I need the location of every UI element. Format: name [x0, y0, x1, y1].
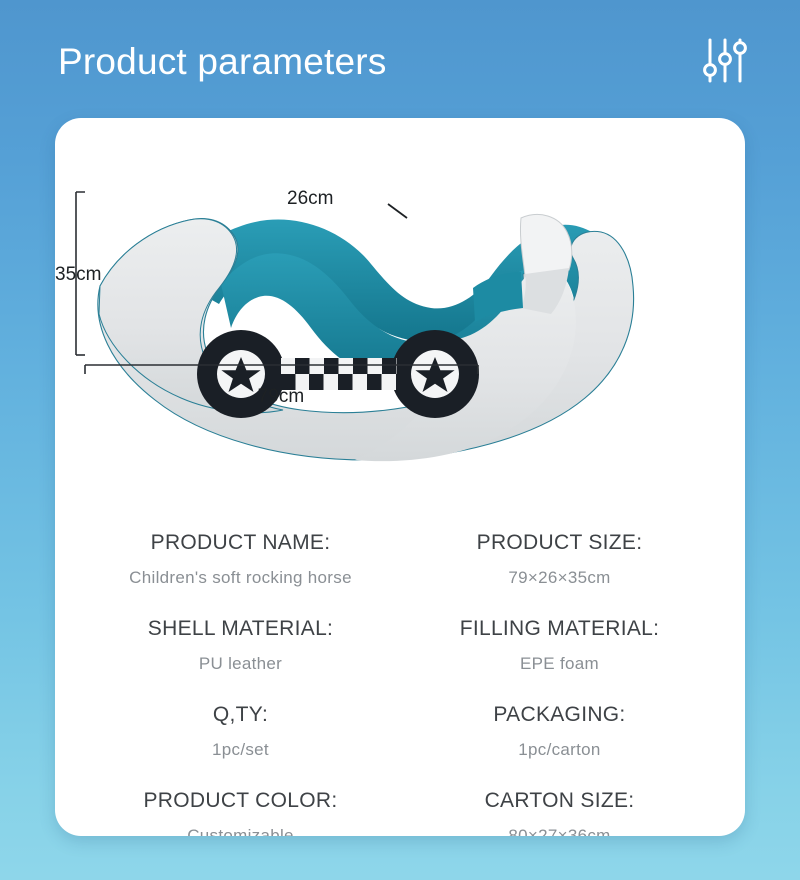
- spec-label: Q,TY:: [213, 702, 268, 728]
- spec-value: 1pc/set: [212, 739, 269, 760]
- spec-packaging: PACKAGING: 1pc/carton: [400, 702, 719, 788]
- rocking-car-illustration: 35cm: [55, 162, 745, 492]
- spec-value: 79×26×35cm: [508, 567, 610, 588]
- spec-product-name: PRODUCT NAME: Children's soft rocking ho…: [81, 530, 400, 616]
- page-title: Product parameters: [58, 43, 387, 80]
- spec-value: 1pc/carton: [518, 739, 600, 760]
- headrest-top: [520, 214, 571, 276]
- specifications-grid: PRODUCT NAME: Children's soft rocking ho…: [55, 530, 745, 836]
- spec-label: SHELL MATERIAL:: [148, 616, 333, 642]
- spec-label: PRODUCT NAME:: [151, 530, 331, 556]
- rear-wheel: [391, 330, 479, 418]
- spec-value: Customizable: [187, 825, 294, 836]
- spec-value: Children's soft rocking horse: [129, 567, 352, 588]
- depth-dimension-line: [388, 204, 407, 218]
- spec-shell-material: SHELL MATERIAL: PU leather: [81, 616, 400, 702]
- spec-value: PU leather: [199, 653, 282, 674]
- page-header: Product parameters: [0, 0, 800, 118]
- spec-filling-material: FILLING MATERIAL: EPE foam: [400, 616, 719, 702]
- spec-value: EPE foam: [520, 653, 599, 674]
- sliders-icon[interactable]: [702, 36, 748, 84]
- spec-label: CARTON SIZE:: [485, 788, 635, 814]
- product-figure: 35cm: [55, 162, 745, 492]
- spec-product-size: PRODUCT SIZE: 79×26×35cm: [400, 530, 719, 616]
- product-card: 35cm: [55, 118, 745, 836]
- length-dimension-label: 79cm: [258, 386, 304, 407]
- rocker-body: [98, 214, 634, 461]
- spec-carton-size: CARTON SIZE: 80×27×36cm: [400, 788, 719, 836]
- depth-dimension-label: 26cm: [287, 188, 333, 209]
- height-dimension-label: 35cm: [55, 264, 101, 285]
- spec-value: 80×27×36cm: [508, 825, 610, 836]
- spec-qty: Q,TY: 1pc/set: [81, 702, 400, 788]
- spec-label: PRODUCT COLOR:: [144, 788, 338, 814]
- spec-label: PACKAGING:: [493, 702, 625, 728]
- spec-label: PRODUCT SIZE:: [477, 530, 643, 556]
- spec-label: FILLING MATERIAL:: [460, 616, 660, 642]
- spec-product-color: PRODUCT COLOR: Customizable: [81, 788, 400, 836]
